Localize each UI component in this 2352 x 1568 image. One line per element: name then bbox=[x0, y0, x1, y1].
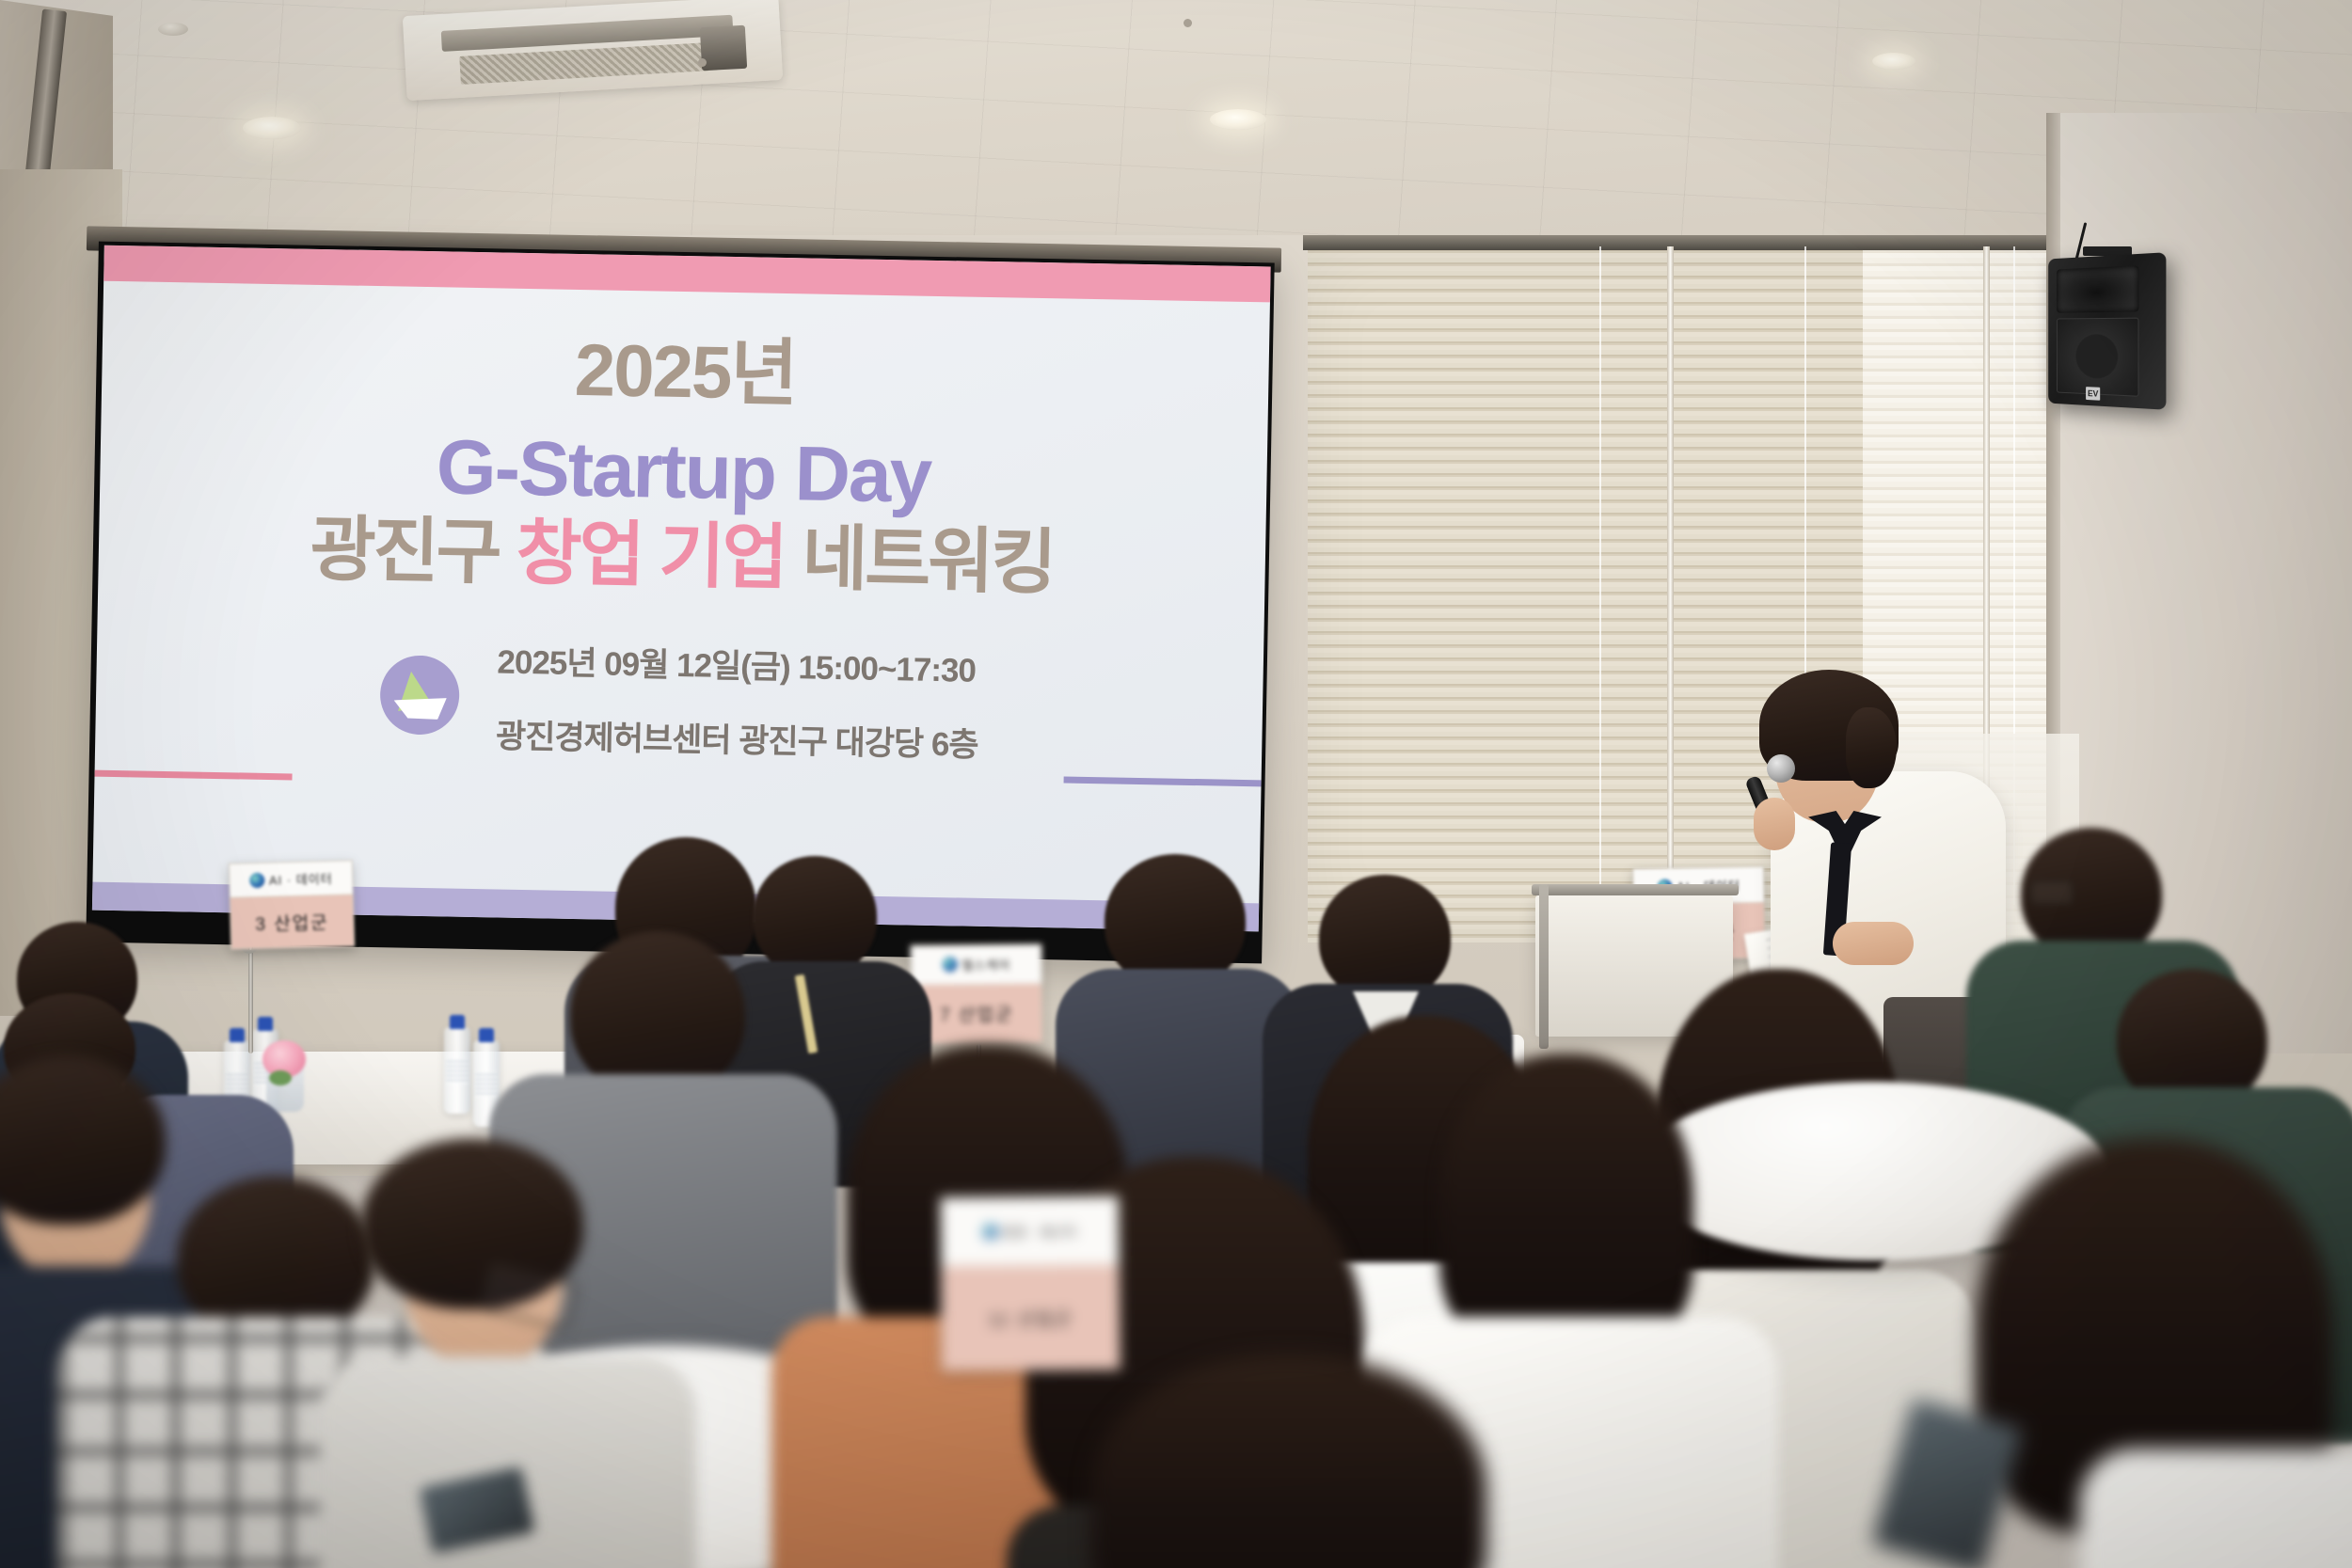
downlight-icon bbox=[1210, 109, 1266, 130]
speaker-woofer bbox=[2057, 318, 2138, 397]
placard-header: 헬스케어 bbox=[911, 944, 1041, 985]
speaker-horn bbox=[2057, 265, 2138, 313]
slide-meta-row: 2025년 09월 12일(금) 15:00~17:30 광진경제허브센터 광진… bbox=[95, 628, 1263, 772]
slide-date-line: 2025년 09월 12일(금) 15:00~17:30 bbox=[497, 636, 979, 692]
side-table-rail bbox=[1532, 884, 1739, 895]
attendee-foreground bbox=[1947, 1138, 2352, 1568]
slide-subtitle-highlight: 창업 기업 bbox=[516, 514, 786, 598]
attendee-hair-long bbox=[1091, 1354, 1486, 1568]
presenter-hair-side bbox=[1846, 707, 1897, 788]
slide-meta-text: 2025년 09월 12일(금) 15:00~17:30 광진경제허브센터 광진… bbox=[496, 636, 980, 767]
blind-cord[interactable] bbox=[1599, 246, 1601, 942]
presenter-hand bbox=[1754, 798, 1795, 850]
placard-header-text: 헬스케어 bbox=[961, 955, 1010, 974]
window-mullion bbox=[1667, 246, 1674, 942]
water-bottle[interactable] bbox=[444, 1027, 470, 1114]
microphone-icon[interactable] bbox=[1767, 754, 1795, 783]
slide-year-label: 2025년 bbox=[102, 325, 1269, 420]
attendee-head bbox=[570, 931, 745, 1097]
attendee-foreground bbox=[1091, 1354, 1486, 1568]
placard-3: AI · 데이터 3 산업군 bbox=[229, 860, 355, 949]
placard-header: 환경 · 에너지 bbox=[941, 1196, 1119, 1267]
ceiling-air-vent-icon bbox=[700, 25, 747, 71]
downlight-icon bbox=[1872, 53, 1915, 70]
placard-body-text: 3 산업군 bbox=[255, 908, 329, 935]
seoul-logo-icon bbox=[982, 1224, 997, 1239]
slide-venue-line: 광진경제허브센터 광진구 대강당 6층 bbox=[496, 710, 978, 767]
attendee-torso bbox=[2079, 1449, 2352, 1568]
attendee-head bbox=[1104, 854, 1246, 988]
sprinkler-icon bbox=[698, 58, 707, 67]
gwangjin-gu-logo-icon bbox=[375, 652, 464, 740]
placard-front: 환경 · 에너지 11 산업군 bbox=[940, 1196, 1120, 1371]
slide-content: 2025년 G-Startup Day 광진구 창업 기업 네트워킹 2025년… bbox=[92, 245, 1271, 932]
attendee-head bbox=[1319, 875, 1451, 1001]
slide-subtitle-part2: 네트워킹 bbox=[785, 518, 1055, 603]
seoul-logo-icon bbox=[942, 958, 957, 973]
placard-body: 3 산업군 bbox=[230, 895, 354, 948]
attendee-hair-long bbox=[1439, 1053, 1693, 1354]
smoke-detector-icon bbox=[158, 23, 188, 36]
placard-body-text: 11 산업군 bbox=[988, 1305, 1073, 1331]
placard-header-text: AI · 데이터 bbox=[269, 869, 333, 889]
placard-header-text: 환경 · 에너지 bbox=[1002, 1222, 1077, 1241]
speaker-brand-logo: EV bbox=[2086, 387, 2100, 401]
slide-surface: 2025년 G-Startup Day 광진구 창업 기업 네트워킹 2025년… bbox=[92, 245, 1271, 932]
eyeglasses-icon bbox=[2030, 880, 2074, 905]
seoul-logo-icon bbox=[249, 872, 264, 887]
blinds-headrail bbox=[1303, 235, 2065, 250]
pa-speaker-icon: EV bbox=[2048, 252, 2166, 410]
conference-room-photo: EV 2025년 G-Startup Day 광진구 창업 기업 네트워킹 20… bbox=[0, 0, 2352, 1568]
downlight-icon bbox=[243, 117, 301, 139]
slide-subtitle-part1: 광진구 bbox=[310, 510, 516, 594]
sprinkler-icon bbox=[1184, 19, 1192, 27]
placard-body-text: 7 산업군 bbox=[940, 1001, 1014, 1027]
presenter-forearm bbox=[1833, 922, 1914, 965]
placard-header: AI · 데이터 bbox=[230, 861, 353, 897]
